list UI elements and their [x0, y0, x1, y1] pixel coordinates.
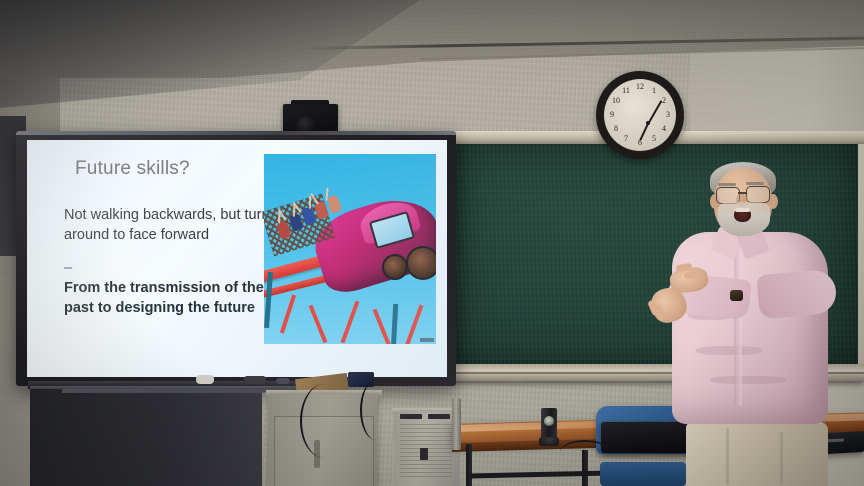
presentation-slide: Future skills? Not walking backwards, bu… — [27, 140, 447, 377]
classroom-photo: 12 1 2 3 4 5 6 7 8 9 10 11 Future skills… — [0, 0, 864, 486]
power-cable — [300, 384, 348, 458]
clock-number: 12 — [634, 81, 646, 93]
shirt-placket — [734, 246, 742, 406]
clock-center-pin — [646, 121, 650, 125]
photo-credit-mark — [420, 338, 434, 342]
presenter — [630, 160, 864, 486]
clock-minute-hand — [647, 100, 662, 124]
cabinet-item — [244, 376, 266, 384]
rider — [288, 212, 303, 231]
clock-number: 11 — [620, 85, 632, 97]
shirt-fold — [696, 346, 762, 355]
coaster-front-wheel — [406, 246, 436, 280]
cabinet-item — [196, 375, 214, 384]
rider — [327, 194, 342, 213]
tv-bezel-highlight — [16, 131, 456, 135]
presenter-shirt — [672, 232, 828, 424]
cabinet-slot — [428, 414, 450, 419]
rider — [301, 206, 316, 225]
rider-arm — [309, 196, 311, 209]
wall-clock: 12 1 2 3 4 5 6 7 8 9 10 11 — [596, 71, 684, 159]
glasses-lens-right — [746, 186, 770, 203]
tv-screen[interactable]: Future skills? Not walking backwards, bu… — [27, 140, 447, 377]
slide-body-text: Not walking backwards, but turning aroun… — [64, 206, 294, 245]
trouser-fold — [726, 428, 729, 484]
power-cable — [360, 380, 392, 440]
slide-photo — [264, 154, 436, 344]
slide-bold-text: From the transmission of the past to des… — [64, 279, 296, 318]
clock-number: 9 — [606, 109, 618, 121]
coaster-rear-wheel — [382, 254, 408, 280]
clock-number: 5 — [648, 133, 660, 145]
teeth — [735, 208, 750, 212]
tumbler-logo-icon — [544, 416, 554, 426]
tv-cabinet — [30, 389, 262, 486]
tumbler-base — [539, 437, 559, 446]
clock-number: 8 — [610, 123, 622, 135]
dark-cable — [560, 440, 610, 464]
desk-leg — [466, 444, 472, 486]
eyebrow-right — [746, 182, 764, 185]
floor-pipe — [452, 398, 461, 450]
shirt-fold — [710, 376, 786, 384]
slide-dash: – — [64, 260, 72, 276]
slide-title: Future skills? — [75, 158, 190, 180]
travel-tumbler[interactable] — [541, 408, 557, 439]
presenter-trousers — [686, 422, 828, 486]
eyebrow-left — [718, 183, 736, 186]
cabinet-item — [276, 378, 290, 384]
wristwatch — [730, 290, 743, 301]
trouser-fold — [780, 432, 783, 484]
cabinet-badge — [420, 448, 428, 460]
clock-number: 3 — [662, 109, 674, 121]
clock-face: 12 1 2 3 4 5 6 7 8 9 10 11 — [604, 79, 676, 151]
cabinet-slot — [400, 414, 422, 419]
